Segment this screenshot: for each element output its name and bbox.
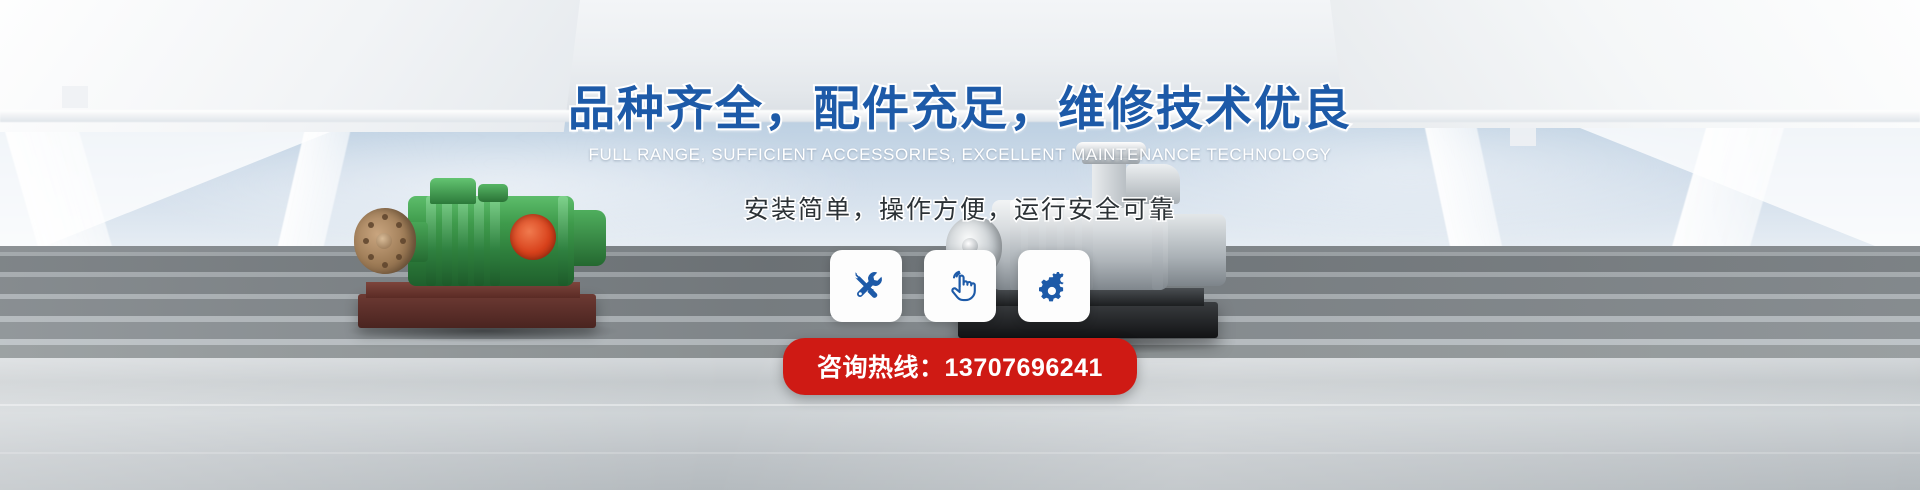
banner-subtitle-chinese: 安装简单，操作方便，运行安全可靠	[0, 190, 1920, 226]
banner-content: 品种齐全，配件充足，维修技术优良 FULL RANGE, SUFFICIENT …	[0, 0, 1920, 490]
feature-card-maintenance[interactable]	[830, 250, 902, 322]
feature-card-row	[0, 250, 1920, 322]
banner-headline: 品种齐全，配件充足，维修技术优良	[0, 70, 1920, 139]
hotline-button[interactable]: 咨询热线：13707696241	[783, 338, 1137, 395]
banner-subtitle-english: FULL RANGE, SUFFICIENT ACCESSORIES, EXCE…	[0, 145, 1920, 165]
tap-hand-icon	[942, 268, 978, 304]
gears-icon	[1036, 268, 1072, 304]
promotional-banner: 品种齐全，配件充足，维修技术优良 FULL RANGE, SUFFICIENT …	[0, 0, 1920, 490]
hotline-container: 咨询热线：13707696241	[0, 338, 1920, 395]
feature-card-parts[interactable]	[1018, 250, 1090, 322]
feature-card-easy-operation[interactable]	[924, 250, 996, 322]
wrench-screwdriver-icon	[848, 268, 884, 304]
